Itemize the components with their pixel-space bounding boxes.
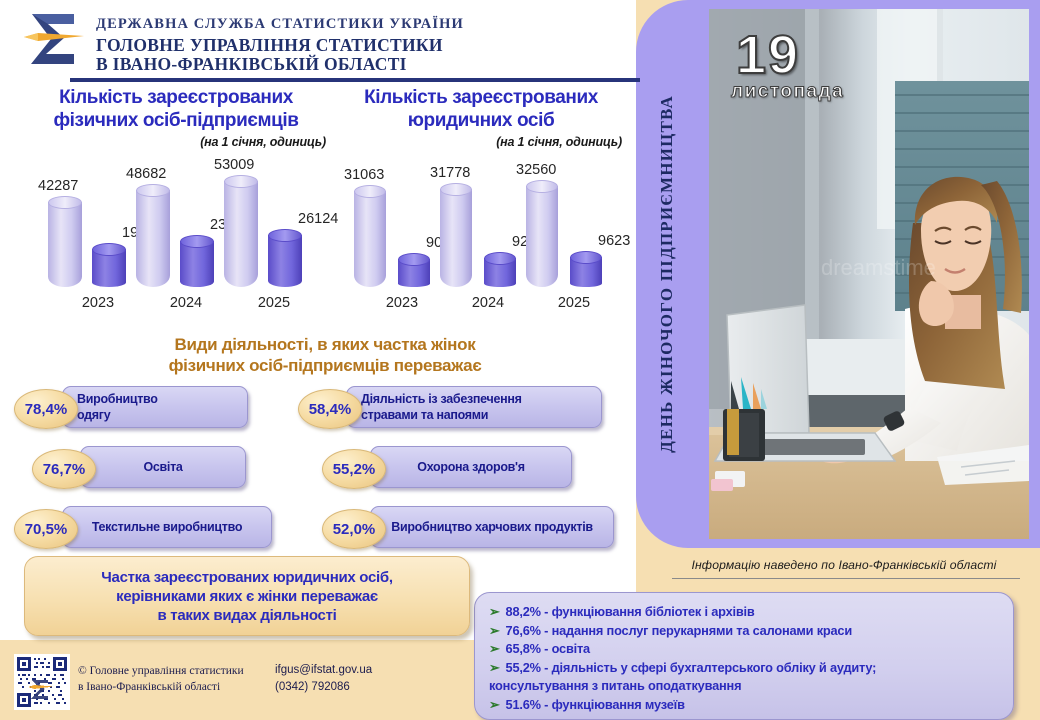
activity-item-healthcare[interactable]: Охорона здоров'я 55,2% [322,446,584,490]
bar-value-label: 32560 [516,162,556,178]
list-item: ➢51.6% - функціювання музеїв [489,696,999,715]
activity-pill[interactable]: Текстильне виробництво [62,506,272,548]
bar-top-ellipse [398,253,430,266]
chart-individual-entrepreneurs: Кількість зареєстрованих фізичних осіб-п… [26,86,326,287]
activity-item-clothing[interactable]: Виробництво одягу 78,4% [14,386,258,430]
bar-top-ellipse [224,175,258,188]
caption-underline [672,578,1020,579]
bar-2025-series1 [526,186,558,287]
x-axis-label: 2025 [218,295,330,311]
bar-value-label: 42287 [38,178,78,194]
header-divider [70,78,640,82]
activity-label-line2: стравами та напоями [361,408,488,422]
footer-contacts: ifgus@ifstat.gov.ua (0342) 792086 [275,662,372,696]
activity-label: Діяльність із забезпечення стравами та н… [361,391,522,423]
bar-2023-series1 [354,191,386,287]
legal-entities-callout: Частка зареєстрованих юридичних осіб, ке… [24,556,470,636]
org-name-line1: ДЕРЖАВНА СЛУЖБА СТАТИСТИКИ УКРАЇНИ [96,16,464,33]
chart1-title-line2: фізичних осіб-підприємців [26,109,326,132]
bar-top-ellipse [136,184,170,197]
chart2-subtitle: (на 1 січня, одиниць) [340,135,622,149]
list-item: ➢88,2% - функціювання бібліотек і архіві… [489,603,999,622]
vertical-title: ДЕНЬ ЖІНОЧОГО ПІДПРИЄМНИЦТВА [636,0,698,548]
chevron-right-icon: ➢ [489,641,500,656]
chart2-plot: 310639031202331778926420243256096232025 [340,155,622,287]
footer-copyright: © Головне управління статистики в Івано-… [78,663,244,695]
bar-value-label: 31778 [430,165,470,181]
bar-2025-series2 [268,235,302,287]
chart2-title-line2: юридичних осіб [340,109,622,132]
bar-body [136,190,170,287]
callout-line1: Частка зареєстрованих юридичних осіб, [101,568,392,587]
bar-body [526,186,558,287]
activity-item-textile[interactable]: Текстильне виробництво 70,5% [14,506,282,550]
chart2-title-line1: Кількість зареєстрованих [340,86,622,109]
activity-label-line1: Діяльність із забезпечення [361,392,522,406]
date-month: листопада [731,81,844,103]
infographic-root: ДЕРЖАВНА СЛУЖБА СТАТИСТИКИ УКРАЇНИ ГОЛОВ… [0,0,1040,720]
bar-body [440,189,472,287]
x-axis-label: 2025 [520,295,628,311]
activity-label: Текстильне виробництво [92,519,242,535]
activity-label: Охорона здоров'я [417,459,524,475]
callout-line3: в таких видах діяльності [101,606,392,625]
bar-value-label: 31063 [344,167,384,183]
list-item-text: 76,6% - надання послуг перукарнями та са… [506,623,852,638]
bar-body [268,235,302,287]
bar-2024-series2 [484,258,516,287]
bar-value-label: 26124 [298,211,338,227]
chart1-subtitle: (на 1 січня, одиниць) [26,135,326,149]
bar-top-ellipse [268,229,302,242]
activity-percent-badge: 78,4% [14,389,78,429]
activity-item-food-service[interactable]: Діяльність із забезпечення стравами та н… [298,386,614,430]
activities-section-heading: Види діяльності, в яких частка жінок фіз… [60,334,590,376]
chevron-right-icon: ➢ [489,660,500,675]
chevron-right-icon: ➢ [489,604,500,619]
bar-2024-series1 [136,190,170,287]
bar-top-ellipse [526,180,558,193]
activity-pill[interactable]: Виробництво одягу [62,386,248,428]
date-number: 19 [736,29,800,81]
bar-top-ellipse [354,185,386,198]
list-item: ➢65,8% - освіта [489,640,999,659]
chart2-title: Кількість зареєстрованих юридичних осіб [340,86,622,132]
list-item-text: 55,2% - діяльність у сфері бухгалтерсько… [506,660,877,675]
callout-line2: керівниками яких є жінки переважає [101,587,392,606]
qr-code-icon[interactable] [14,654,70,710]
bar-top-ellipse [484,252,516,265]
bar-body [224,181,258,287]
vertical-title-text: ДЕНЬ ЖІНОЧОГО ПІДПРИЄМНИЦТВА [657,95,677,453]
activity-pill[interactable]: Виробництво харчових продуктів [370,506,614,548]
activity-label-line1: Виробництво [77,392,158,406]
activity-percent-badge: 52,0% [322,509,386,549]
activity-pill[interactable]: Діяльність із забезпечення стравами та н… [346,386,602,428]
activities-heading-line2: фізичних осіб-підприємців переважає [60,355,590,376]
activity-percent-badge: 55,2% [322,449,386,489]
activity-pill[interactable]: Охорона здоров'я [370,446,572,488]
chevron-right-icon: ➢ [489,697,500,712]
activity-label: Освіта [143,459,182,475]
woman-at-laptop-photo: dreamstime 19 листопада [709,9,1029,539]
footer-copyright-line2: в Івано-Франківській області [78,679,244,695]
list-item-text: 51.6% - функціювання музеїв [506,697,685,712]
footer-email[interactable]: ifgus@ifstat.gov.ua [275,662,372,679]
bar-2023-series2 [398,259,430,287]
org-name-line2: ГОЛОВНЕ УПРАВЛІННЯ СТАТИСТИКИ В ІВАНО-ФР… [96,36,443,74]
chart1-plot: 4228719121202348682230182024530092612420… [26,155,326,287]
bar-value-label: 53009 [214,157,254,173]
bar-top-ellipse [440,183,472,196]
bar-2025-series1 [224,181,258,287]
svg-text:dreamstime: dreamstime [821,255,936,280]
activity-percent-badge: 70,5% [14,509,78,549]
activity-percent-badge: 58,4% [298,389,362,429]
list-item-text: 65,8% - освіта [506,641,590,656]
bar-2024-series1 [440,189,472,287]
bar-top-ellipse [570,251,602,264]
org-name-line2b: В ІВАНО-ФРАНКІВСЬКІЙ ОБЛАСТІ [96,55,443,74]
bar-value-label: 9623 [598,233,630,249]
chart-legal-entities: Кількість зареєстрованих юридичних осіб … [340,86,622,287]
sigma-logo-icon [18,6,88,72]
activity-pill[interactable]: Освіта [80,446,246,488]
activity-item-education[interactable]: Освіта 76,7% [32,446,258,490]
activity-percent-badge: 76,7% [32,449,96,489]
list-item: ➢76,6% - надання послуг перукарнями та с… [489,622,999,641]
list-item: ➢55,2% - діяльність у сфері бухгалтерськ… [489,659,999,678]
footer-copyright-line1: © Головне управління статистики [78,663,244,679]
activity-breakdown-list: ➢88,2% - функціювання бібліотек і архіві… [474,592,1014,720]
org-name-line2a: ГОЛОВНЕ УПРАВЛІННЯ СТАТИСТИКИ [96,36,443,55]
activities-heading-line1: Види діяльності, в яких частка жінок [60,334,590,355]
list-item-text: 88,2% - функціювання бібліотек і архівів [506,604,755,619]
bar-2023-series1 [48,202,82,287]
bar-top-ellipse [92,243,126,256]
list-item-continuation: консультування з питань оподаткування [489,677,999,696]
bar-body [354,191,386,287]
chart1-title: Кількість зареєстрованих фізичних осіб-п… [26,86,326,132]
activity-label: Виробництво одягу [77,391,158,423]
chevron-right-icon: ➢ [489,623,500,638]
photo-caption: Інформацію наведено по Івано-Франківські… [666,558,1022,572]
bar-2024-series2 [180,241,214,287]
footer-phone: (0342) 792086 [275,679,372,696]
bar-top-ellipse [48,196,82,209]
bar-top-ellipse [180,235,214,248]
bar-2023-series2 [92,249,126,287]
activity-label: Виробництво харчових продуктів [391,519,593,535]
bar-body [48,202,82,287]
bar-value-label: 48682 [126,166,166,182]
activity-item-food-production[interactable]: Виробництво харчових продуктів 52,0% [322,506,624,550]
page-header: ДЕРЖАВНА СЛУЖБА СТАТИСТИКИ УКРАЇНИ ГОЛОВ… [0,0,640,80]
activity-label-line2: одягу [77,408,110,422]
bar-2025-series2 [570,257,602,287]
chart1-title-line1: Кількість зареєстрованих [26,86,326,109]
